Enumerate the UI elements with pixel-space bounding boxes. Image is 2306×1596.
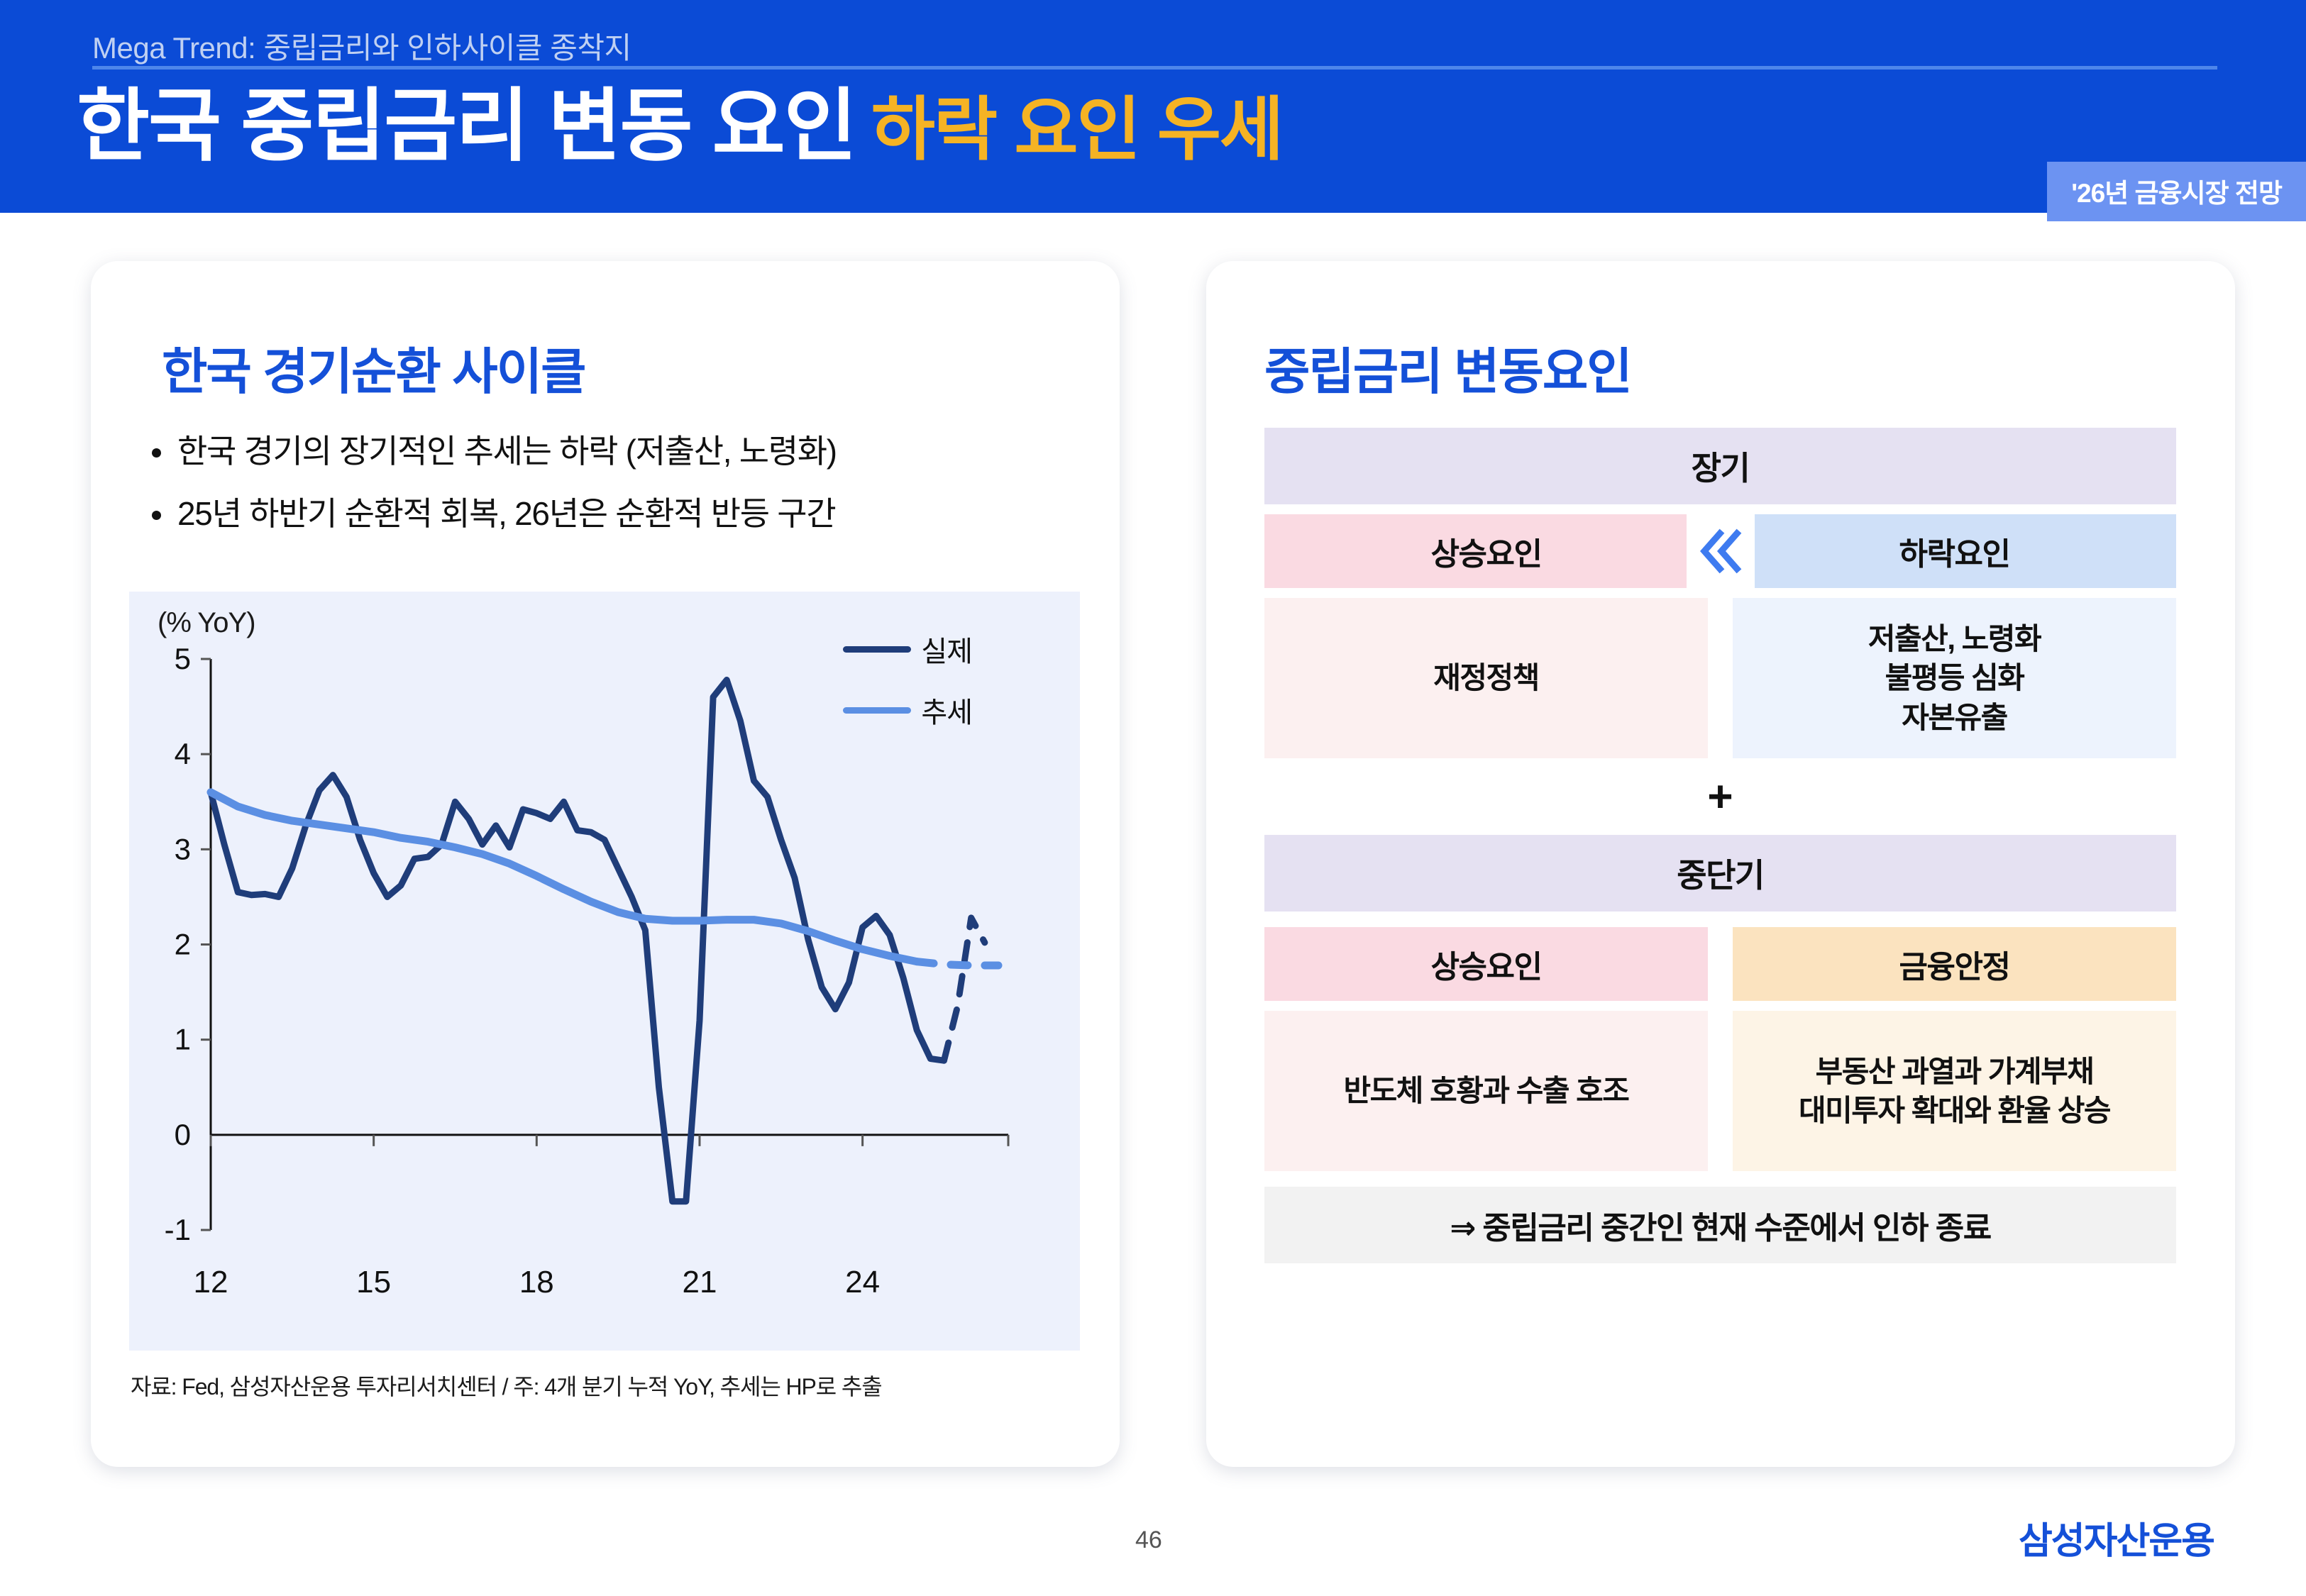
svg-text:5: 5 <box>175 642 191 675</box>
svg-text:12: 12 <box>194 1265 228 1299</box>
long-term-band: 장기 <box>1264 428 2176 504</box>
long-term-down-body: 저출산, 노령화 불평등 심화 자본유출 <box>1733 598 2176 758</box>
page-title: 한국 중립금리 변동 요인하락 요인 우세 <box>77 87 1282 166</box>
svg-text:1: 1 <box>175 1023 191 1056</box>
header-divider <box>92 66 2217 70</box>
page-title-main: 한국 중립금리 변동 요인 <box>77 82 856 170</box>
left-card-bullets: 한국 경기의 장기적인 추세는 하락 (저출산, 노령화) 25년 하반기 순환… <box>148 435 1091 560</box>
mid-term-right-body: 부동산 과열과 가계부채 대미투자 확대와 환율 상승 <box>1733 1011 2176 1171</box>
mid-term-right-line: 대미투자 확대와 환율 상승 <box>1799 1094 2110 1127</box>
long-term-down-line: 불평등 심화 <box>1885 661 2024 694</box>
long-term-body-row: 재정정책 저출산, 노령화 불평등 심화 자본유출 <box>1264 598 2176 758</box>
factors-card: 중립금리 변동요인 장기 상승요인 하락요인 재정정책 저출산, 노령화 불평등… <box>1206 261 2235 1467</box>
long-term-down-label: 하락요인 <box>1733 514 2176 588</box>
svg-text:24: 24 <box>845 1265 880 1299</box>
status-badge: '26년 금융시장 전망 <box>2047 162 2306 221</box>
mid-term-body-row: 반도체 호황과 수출 호조 부동산 과열과 가계부채 대미투자 확대와 환율 상… <box>1264 1011 2176 1171</box>
svg-text:2: 2 <box>175 928 191 961</box>
mid-term-band: 중단기 <box>1264 835 2176 911</box>
mid-term-right-label: 금융안정 <box>1733 927 2176 1001</box>
svg-text:4: 4 <box>175 737 191 770</box>
long-term-down-line: 자본유출 <box>1902 701 2007 734</box>
long-term-up-label: 상승요인 <box>1264 514 1708 588</box>
svg-text:15: 15 <box>356 1265 391 1299</box>
svg-text:-1: -1 <box>165 1213 191 1246</box>
factors-matrix: 장기 상승요인 하락요인 재정정책 저출산, 노령화 불평등 심화 자본유출 <box>1264 428 2176 1263</box>
page-number: 46 <box>1135 1526 1162 1554</box>
chart-source-note: 자료: Fed, 삼성자산운용 투자리서치센터 / 주: 4개 분기 누적 Yo… <box>131 1369 882 1402</box>
mid-term-right-line: 부동산 과열과 가계부채 <box>1816 1055 2094 1088</box>
mid-term-label-row: 상승요인 금융안정 <box>1264 927 2176 1001</box>
mid-term-up-body: 반도체 호황과 수출 호조 <box>1264 1011 1708 1171</box>
slide-header: Mega Trend: 중립금리와 인하사이클 종착지 한국 중립금리 변동 요… <box>0 0 2306 213</box>
double-chevron-left-icon <box>1687 514 1755 588</box>
line-chart: (% YoY) 실제 추세 543210-11215182124 <box>129 592 1080 1351</box>
plus-operator: + <box>1264 758 2176 835</box>
chart-plot-area: 543210-11215182124 <box>129 592 1080 1351</box>
bullet-item: 25년 하반기 순환적 회복, 26년은 순환적 반등 구간 <box>148 497 1091 530</box>
mid-term-up-label: 상승요인 <box>1264 927 1708 1001</box>
page-title-accent: 하락 요인 우세 <box>871 90 1282 168</box>
svg-text:0: 0 <box>175 1118 191 1151</box>
svg-text:18: 18 <box>519 1265 554 1299</box>
bullet-item: 한국 경기의 장기적인 추세는 하락 (저출산, 노령화) <box>148 435 1091 467</box>
long-term-down-line: 저출산, 노령화 <box>1868 622 2041 655</box>
chart-card: 한국 경기순환 사이클 한국 경기의 장기적인 추세는 하락 (저출산, 노령화… <box>91 261 1120 1467</box>
company-logo: 삼성자산운용 <box>2019 1511 2214 1564</box>
long-term-up-body: 재정정책 <box>1264 598 1708 758</box>
long-term-label-row: 상승요인 하락요인 <box>1264 514 2176 588</box>
svg-text:3: 3 <box>175 832 191 865</box>
svg-text:21: 21 <box>682 1265 717 1299</box>
header-eyebrow: Mega Trend: 중립금리와 인하사이클 종착지 <box>92 24 631 67</box>
conclusion-banner: ⇒ 중립금리 중간인 현재 수준에서 인하 종료 <box>1264 1187 2176 1263</box>
right-card-title: 중립금리 변동요인 <box>1264 332 1631 404</box>
left-card-title: 한국 경기순환 사이클 <box>162 332 585 404</box>
